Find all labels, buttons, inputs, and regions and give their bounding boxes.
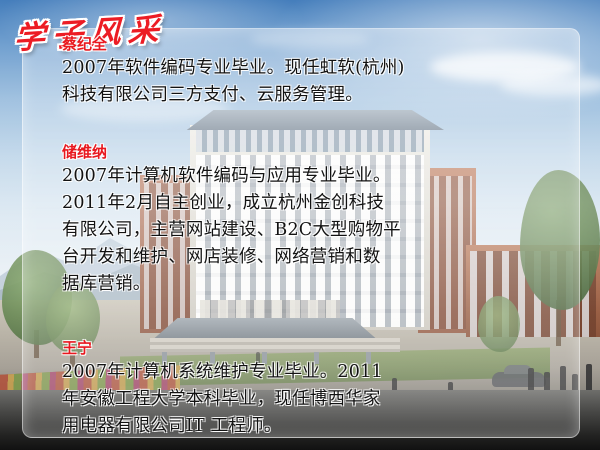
student-entry: 蔡纪全 2007年软件编码专业毕业。现任虹软(杭州) 科技有限公司三方支付、云服… bbox=[62, 34, 562, 109]
student-description: 2007年计算机软件编码与应用专业毕业。 2011年2月自主创业，成立杭州金创科… bbox=[62, 163, 562, 298]
student-description: 2007年软件编码专业毕业。现任虹软(杭州) 科技有限公司三方支付、云服务管理。 bbox=[62, 55, 562, 109]
student-name: 储维纳 bbox=[62, 142, 562, 162]
student-description: 2007年计算机系统维护专业毕业。2011 年安徽工程大学本科毕业，现任博西华家… bbox=[62, 359, 562, 440]
student-entry: 储维纳 2007年计算机软件编码与应用专业毕业。 2011年2月自主创业，成立杭… bbox=[62, 142, 562, 298]
student-profile-list: 蔡纪全 2007年软件编码专业毕业。现任虹软(杭州) 科技有限公司三方支付、云服… bbox=[62, 34, 562, 450]
student-name: 蔡纪全 bbox=[62, 34, 562, 54]
student-entry: 王宁 2007年计算机系统维护专业毕业。2011 年安徽工程大学本科毕业，现任博… bbox=[62, 338, 562, 440]
presentation-slide: 学子风采 蔡纪全 2007年软件编码专业毕业。现任虹软(杭州) 科技有限公司三方… bbox=[0, 0, 600, 450]
student-name: 王宁 bbox=[62, 338, 562, 358]
